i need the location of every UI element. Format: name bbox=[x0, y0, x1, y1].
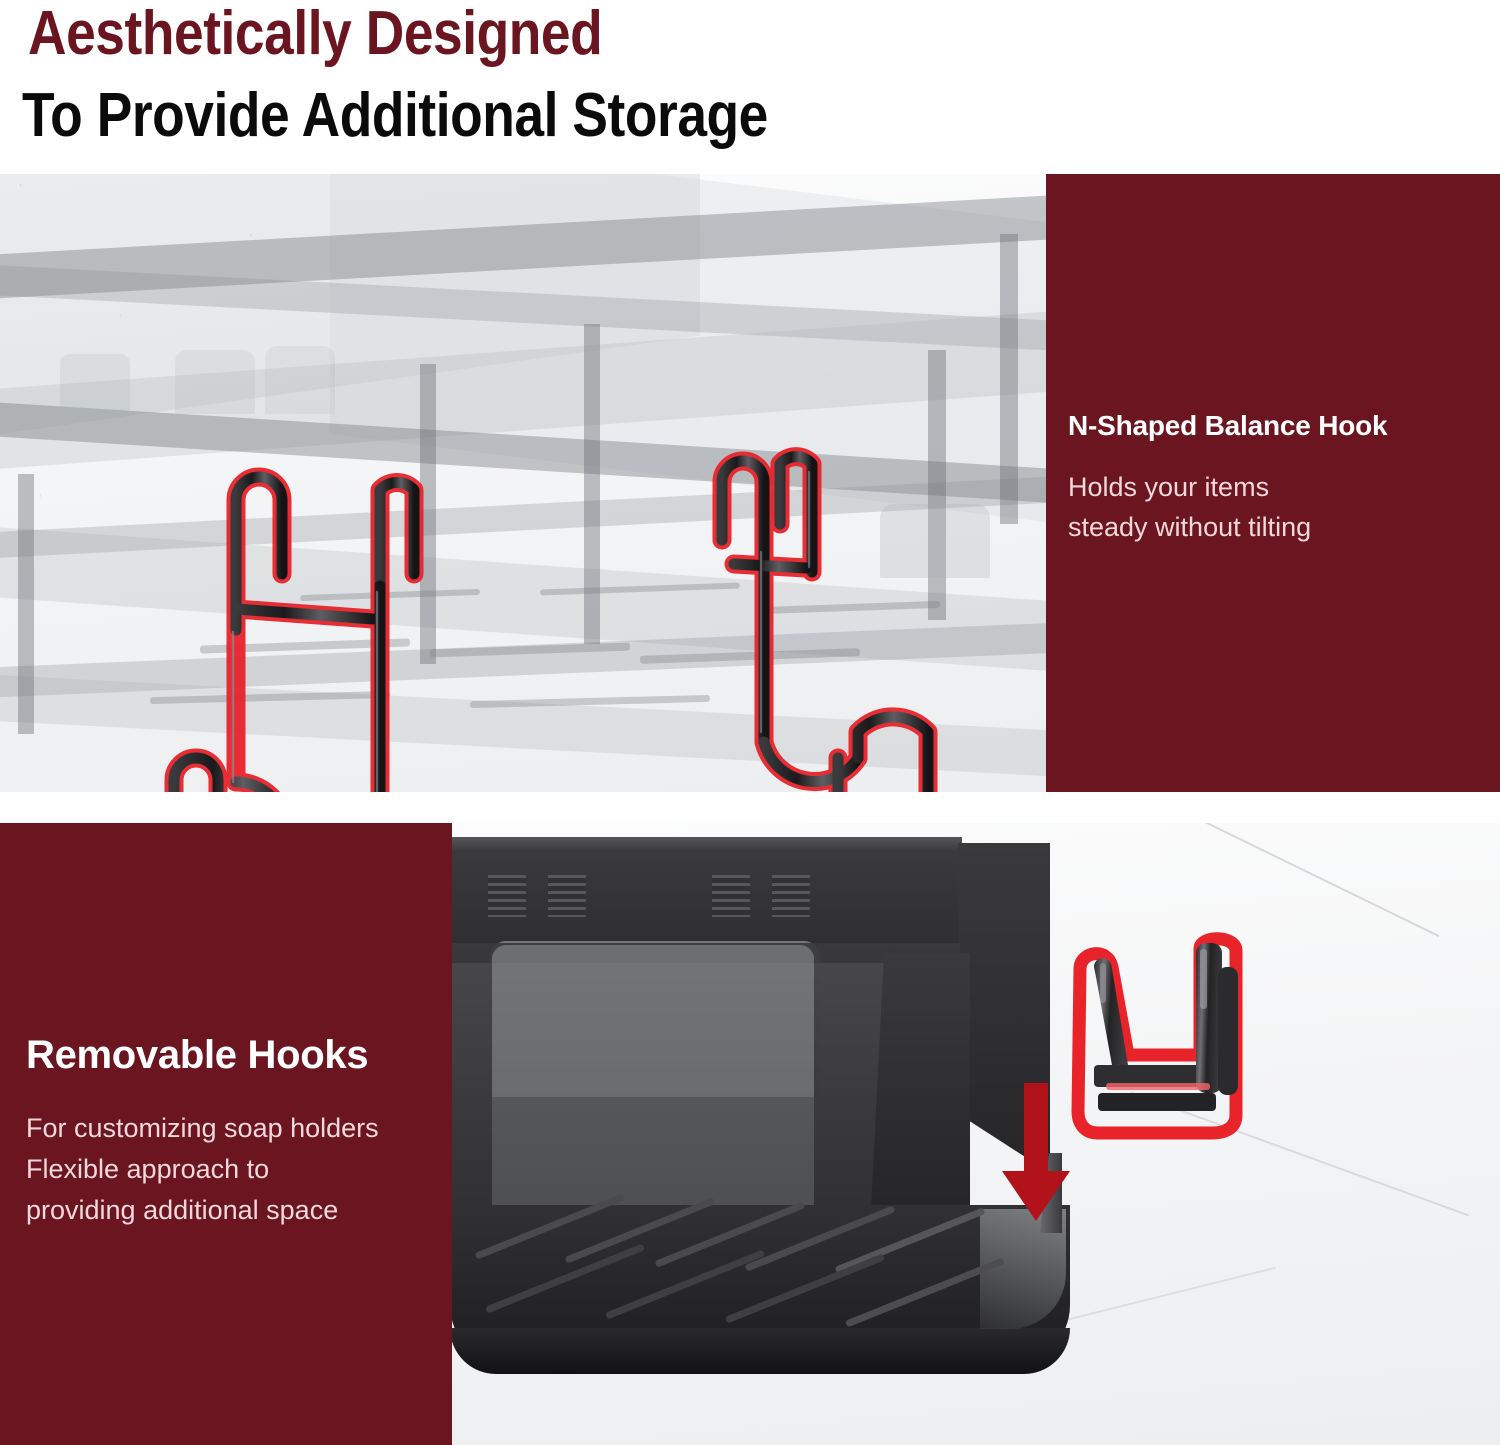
bottom-caption-body-line-1: For customizing soap holders bbox=[26, 1108, 456, 1149]
top-caption-title: N-Shaped Balance Hook bbox=[1068, 410, 1488, 442]
ghost-bottle bbox=[175, 350, 255, 414]
bottom-caption-body: For customizing soap holders Flexible ap… bbox=[26, 1108, 456, 1231]
top-product-photo bbox=[0, 174, 1046, 792]
caddy-mount-tab bbox=[548, 875, 586, 917]
top-caption-text: N-Shaped Balance Hook Holds your items s… bbox=[1068, 410, 1488, 548]
bottom-caption-title: Removable Hooks bbox=[26, 1033, 456, 1078]
ghost-bottle bbox=[265, 346, 335, 414]
caddy-divider-wall bbox=[492, 1097, 814, 1215]
caddy-mount-tab bbox=[488, 875, 526, 917]
product-feature-image: Aesthetically Designed To Provide Additi… bbox=[0, 0, 1500, 1445]
n-shaped-hook-right bbox=[662, 442, 962, 792]
caddy-divider-glass bbox=[492, 945, 814, 1097]
headline-line-2: To Provide Additional Storage bbox=[22, 80, 768, 151]
bottom-caption-body-line-3: providing additional space bbox=[26, 1190, 456, 1231]
shelf-post bbox=[1000, 234, 1018, 524]
marble-vein bbox=[1061, 823, 1439, 937]
ghost-bottle bbox=[60, 354, 130, 414]
caddy-tray-front-edge bbox=[450, 1328, 1070, 1374]
shelf-post bbox=[18, 474, 34, 734]
top-caption-body-line-2: steady without tilting bbox=[1068, 508, 1488, 548]
removable-hook-clip bbox=[1050, 933, 1265, 1168]
shelf-post bbox=[584, 324, 600, 644]
top-caption-body: Holds your items steady without tilting bbox=[1068, 468, 1488, 548]
headline-line-1: Aesthetically Designed bbox=[28, 0, 602, 69]
n-shaped-hook-left bbox=[118, 462, 428, 792]
caddy-mount-tab bbox=[712, 875, 750, 917]
top-caption-body-line-1: Holds your items bbox=[1068, 468, 1488, 508]
caddy-side-wall bbox=[870, 953, 970, 1228]
caddy-top-edge bbox=[450, 837, 962, 851]
caddy-mount-tab bbox=[772, 875, 810, 917]
bottom-caption-body-line-2: Flexible approach to bbox=[26, 1149, 456, 1190]
headline-block: Aesthetically Designed To Provide Additi… bbox=[0, 0, 1500, 174]
bottom-caption-text: Removable Hooks For customizing soap hol… bbox=[26, 1033, 456, 1231]
